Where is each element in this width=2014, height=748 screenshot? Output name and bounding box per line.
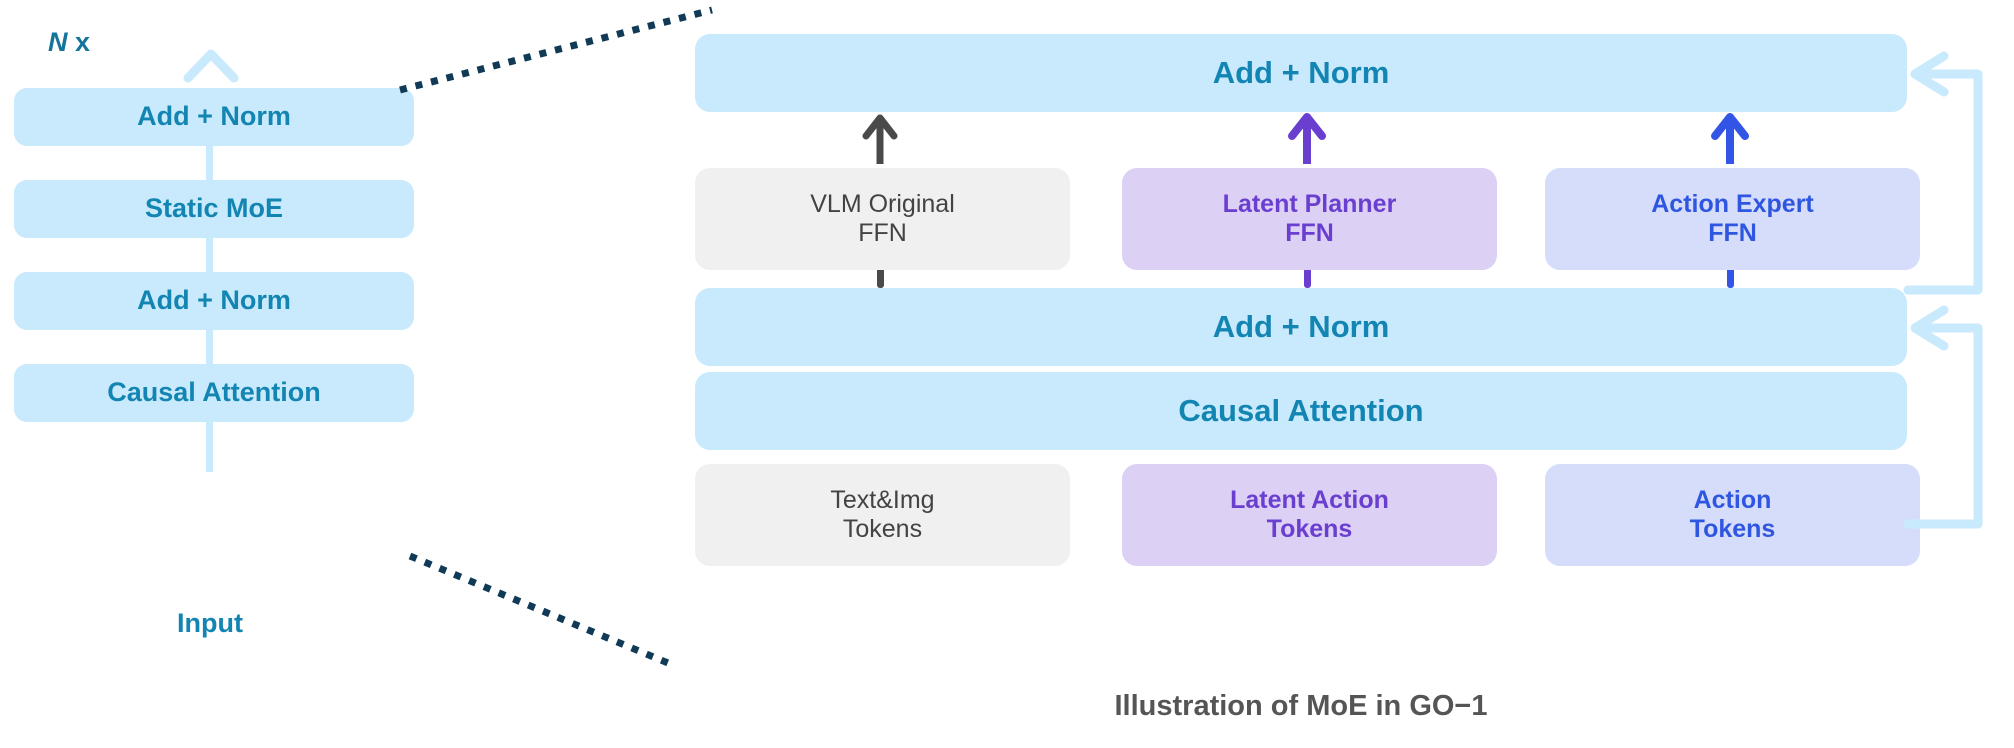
token-box-text-img[interactable]: Text&Img Tokens	[695, 464, 1070, 566]
token-box-action[interactable]: Action Tokens	[1545, 464, 1920, 566]
ffn-box-vlm-original[interactable]: VLM Original FFN	[695, 168, 1070, 270]
diagram-canvas: N x Add + Norm Static MoE Add + Norm Cau…	[0, 0, 2014, 748]
right-add-norm-mid[interactable]: Add + Norm	[695, 288, 1907, 366]
ffn-box-action-expert[interactable]: Action Expert FFN	[1545, 168, 1920, 270]
right-moe-detail: Add + Norm VLM Original FFN Latent Plann…	[0, 0, 2014, 748]
right-causal-attention[interactable]: Causal Attention	[695, 372, 1907, 450]
right-add-norm-top[interactable]: Add + Norm	[695, 34, 1907, 112]
ffn-box-latent-planner[interactable]: Latent Planner FFN	[1122, 168, 1497, 270]
figure-caption: Illustration of MoE in GO−1	[695, 690, 1907, 723]
token-box-latent-action[interactable]: Latent Action Tokens	[1122, 464, 1497, 566]
